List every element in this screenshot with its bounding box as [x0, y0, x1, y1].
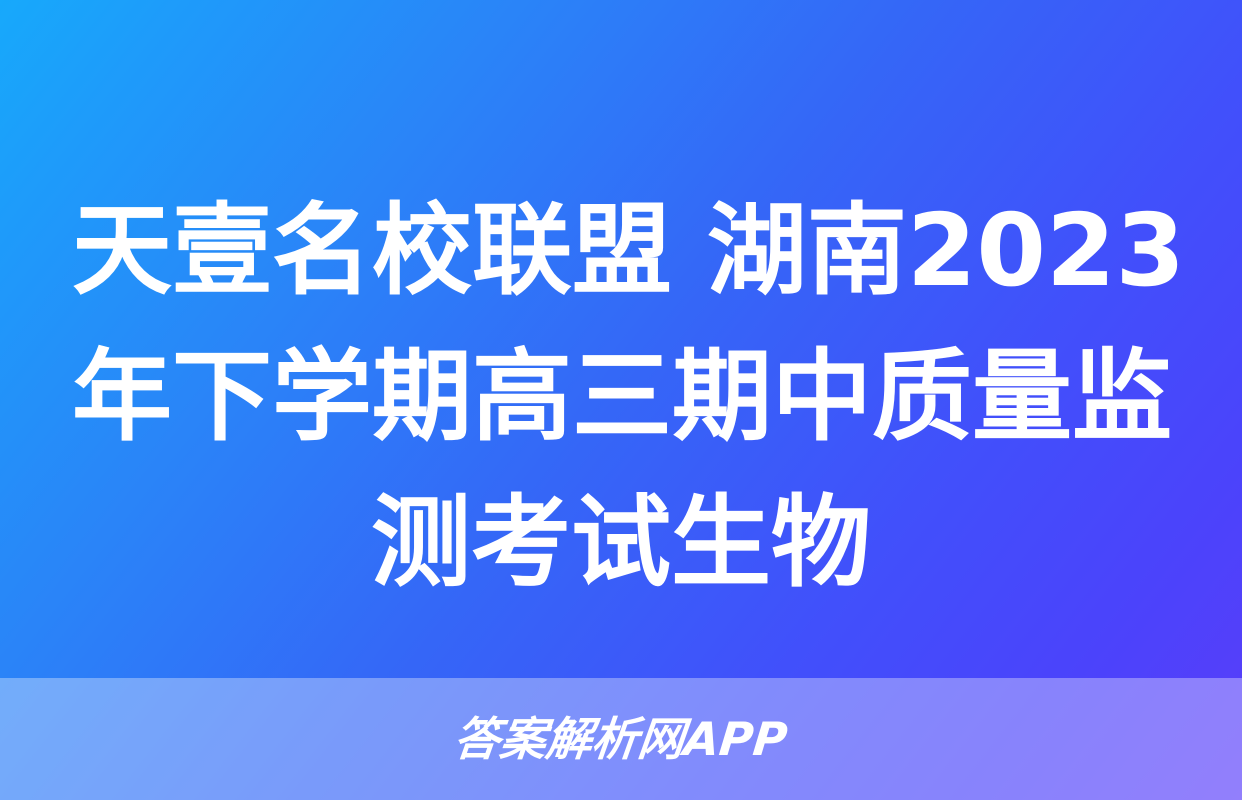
- poster-canvas: 天壹名校联盟 湖南2023 年下学期高三期中质量监 测考试生物 答案解析网APP: [0, 0, 1242, 800]
- title-line-1: 天壹名校联盟 湖南2023: [72, 178, 1170, 324]
- watermark-label: 答案解析网APP: [452, 713, 790, 765]
- watermark-band: 答案解析网APP: [0, 678, 1242, 800]
- title-line-2: 年下学期高三期中质量监: [72, 324, 1170, 470]
- page-title: 天壹名校联盟 湖南2023 年下学期高三期中质量监 测考试生物: [0, 178, 1242, 616]
- title-line-3: 测考试生物: [72, 470, 1170, 616]
